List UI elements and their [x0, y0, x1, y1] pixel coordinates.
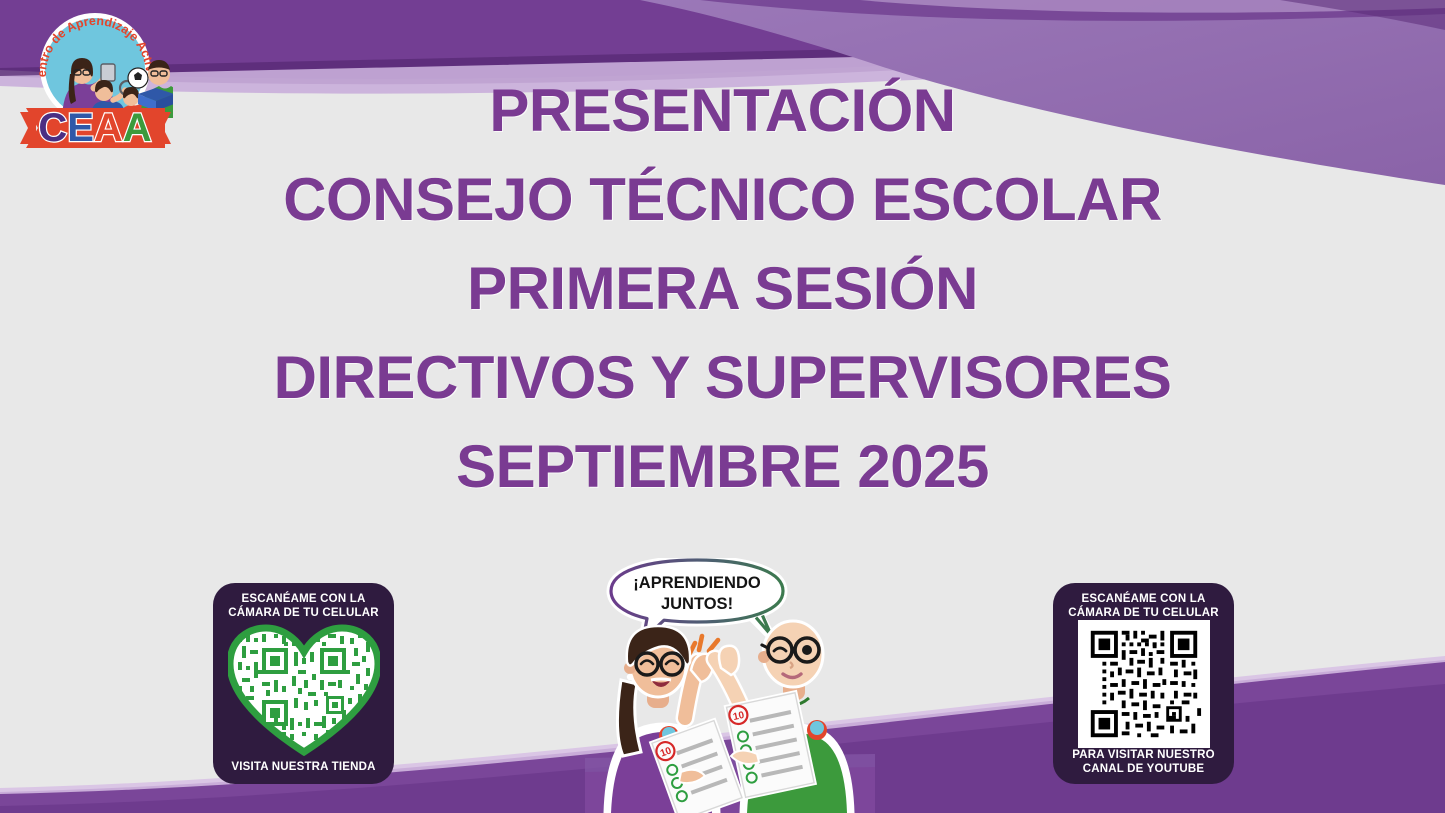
- teachers-illustration: ¡APRENDIENDO JUNTOS!: [585, 558, 875, 813]
- qr-store-caption-line1: ESCANÉAME CON LA: [228, 592, 379, 606]
- qr-card-store-bottom-caption: VISITA NUESTRA TIENDA: [231, 760, 375, 775]
- qr-card-youtube-top-caption: ESCANÉAME CON LA CÁMARA DE TU CELULAR: [1068, 592, 1219, 620]
- title-line-2: CONSEJO TÉCNICO ESCOLAR: [0, 155, 1445, 244]
- qr-youtube-bottom-line2: CANAL DE YOUTUBE: [1072, 762, 1214, 776]
- qr-store-caption-line2: CÁMARA DE TU CELULAR: [228, 606, 379, 620]
- title-line-5: SEPTIEMBRE 2025: [0, 422, 1445, 511]
- qr-card-store-top-caption: ESCANÉAME CON LA CÁMARA DE TU CELULAR: [228, 592, 379, 620]
- bubble-line-1: ¡APRENDIENDO: [633, 574, 761, 592]
- speech-bubble: ¡APRENDIENDO JUNTOS!: [611, 560, 783, 640]
- presentation-slide: Centro de Aprendizaje Activo: [0, 0, 1445, 813]
- qr-youtube-caption-line2: CÁMARA DE TU CELULAR: [1068, 606, 1219, 620]
- qr-square-graphic[interactable]: [1083, 625, 1205, 743]
- title-line-4: DIRECTIVOS Y SUPERVISORES: [0, 333, 1445, 422]
- qr-card-store[interactable]: ESCANÉAME CON LA CÁMARA DE TU CELULAR: [213, 583, 394, 784]
- qr-store-bottom-line1: VISITA NUESTRA TIENDA: [231, 760, 375, 774]
- qr-code-square-youtube[interactable]: [1078, 620, 1210, 748]
- page-title: PRESENTACIÓN CONSEJO TÉCNICO ESCOLAR PRI…: [0, 66, 1445, 511]
- title-line-1: PRESENTACIÓN: [0, 66, 1445, 155]
- qr-youtube-caption-line1: ESCANÉAME CON LA: [1068, 592, 1219, 606]
- qr-youtube-bottom-line1: PARA VISITAR NUESTRO: [1072, 748, 1214, 762]
- qr-heart-graphic[interactable]: [228, 624, 380, 756]
- title-line-3: PRIMERA SESIÓN: [0, 244, 1445, 333]
- qr-card-youtube-bottom-caption: PARA VISITAR NUESTRO CANAL DE YOUTUBE: [1072, 748, 1214, 777]
- qr-code-heart-store[interactable]: [228, 624, 380, 756]
- qr-card-youtube[interactable]: ESCANÉAME CON LA CÁMARA DE TU CELULAR: [1053, 583, 1234, 784]
- bubble-line-2: JUNTOS!: [661, 595, 733, 613]
- teachers-illustration-graphic: ¡APRENDIENDO JUNTOS!: [585, 558, 875, 813]
